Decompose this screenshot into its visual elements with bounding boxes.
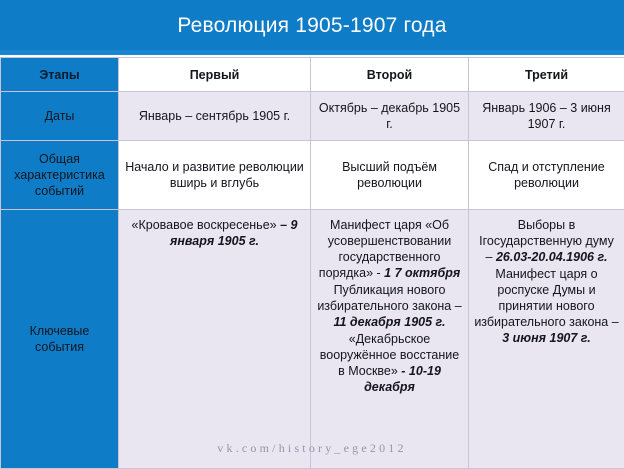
key-event-date: 11 декабря 1905 г. — [333, 315, 445, 329]
row-label-key-events: Ключевые события — [1, 210, 119, 469]
key-event-date: 1 7 октября — [384, 266, 460, 280]
column-header-first: Первый — [119, 58, 311, 92]
cell-key-events-first: «Кровавое воскресенье» – 9 января 1905 г… — [119, 210, 311, 469]
row-label-stages: Этапы — [1, 58, 119, 92]
cell-general-first: Начало и развитие революции вширь и вглу… — [119, 141, 311, 210]
key-event-entry: Публикация нового избирательного закона … — [316, 282, 463, 330]
stages-table-container: Этапы Первый Второй Третий Даты Январь –… — [0, 57, 624, 438]
key-event-date: 26.03-20.04.1906 г. — [496, 250, 607, 264]
row-label-dates: Даты — [1, 92, 119, 141]
table-row-dates: Даты Январь – сентябрь 1905 г. Октябрь –… — [1, 92, 624, 141]
cell-key-events-second: Манифест царя «Об усовершенствовании гос… — [311, 210, 469, 469]
key-event-entry: «Декабрьское вооружённое восстание в Мос… — [316, 331, 463, 395]
cell-general-second: Высший подъём революции — [311, 141, 469, 210]
key-event-entry: Манифест царя «Об усовершенствовании гос… — [316, 217, 463, 281]
table-row-key-events: Ключевые события «Кровавое воскресенье» … — [1, 210, 624, 469]
cell-general-third: Спад и отступление революции — [469, 141, 624, 210]
slide-root: Революция 1905-1907 года Этапы Первый Вт… — [0, 0, 624, 468]
page-title: Революция 1905-1907 года — [177, 15, 446, 36]
key-event-entry: Манифест царя о роспуске Думы и принятии… — [474, 266, 619, 346]
key-event-date: 3 июня 1907 г. — [502, 331, 591, 345]
watermark-credit: vk.com/history_ege2012 — [0, 441, 624, 456]
cell-key-events-third: Выборы в Iгосударственную думу – 26.03-2… — [469, 210, 624, 469]
table-row-general-characteristics: Общая характеристика событий Начало и ра… — [1, 141, 624, 210]
column-header-third: Третий — [469, 58, 624, 92]
column-header-second: Второй — [311, 58, 469, 92]
key-event-text: Манифест царя о роспуске Думы и принятии… — [474, 267, 618, 329]
cell-dates-third: Январь 1906 – 3 июня 1907 г. — [469, 92, 624, 141]
key-event-entry: Выборы в Iгосударственную думу – 26.03-2… — [474, 217, 619, 265]
key-event-entry: «Кровавое воскресенье» – 9 января 1905 г… — [124, 217, 305, 249]
revolution-stages-table: Этапы Первый Второй Третий Даты Январь –… — [0, 57, 624, 469]
key-event-text: «Кровавое воскресенье» — [132, 218, 281, 232]
table-row-header: Этапы Первый Второй Третий — [1, 58, 624, 92]
title-underline-divider — [0, 50, 624, 55]
key-event-text: Публикация нового избирательного закона … — [317, 283, 461, 313]
cell-dates-first: Январь – сентябрь 1905 г. — [119, 92, 311, 141]
cell-dates-second: Октябрь – декабрь 1905 г. — [311, 92, 469, 141]
row-label-general-characteristics: Общая характеристика событий — [1, 141, 119, 210]
title-banner: Революция 1905-1907 года — [0, 0, 624, 50]
